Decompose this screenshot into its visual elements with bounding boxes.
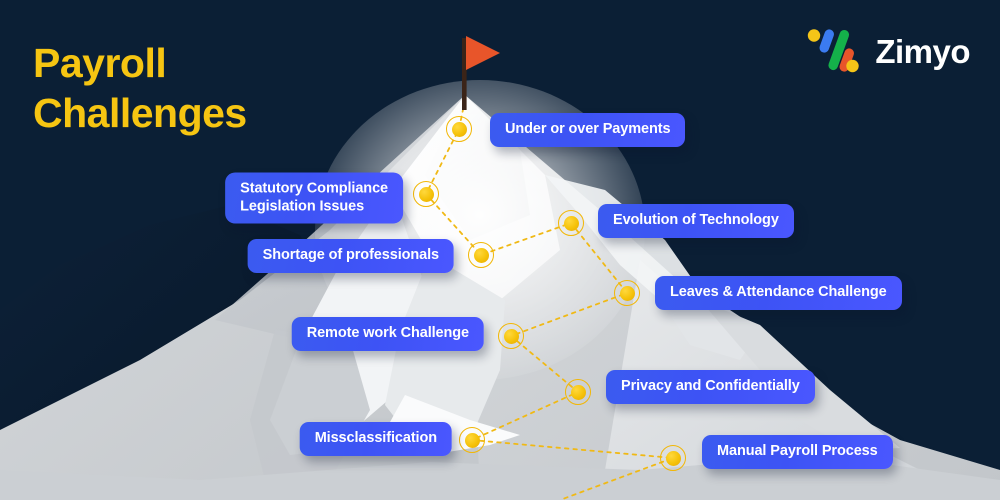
marker-privacy-and-confidentially[interactable] (565, 379, 591, 405)
marker-missclassification[interactable] (459, 427, 485, 453)
marker-leaves-attendance-challenge[interactable] (614, 280, 640, 306)
marker-manual-payroll-process[interactable] (660, 445, 686, 471)
challenge-label-statutory-compliance-legislation-issues[interactable]: Statutory Compliance Legislation Issues (225, 173, 403, 224)
marker-under-or-over-payments[interactable] (446, 116, 472, 142)
marker-remote-work-challenge[interactable] (498, 323, 524, 349)
zimyo-logo-icon (805, 26, 861, 76)
challenge-label-manual-payroll-process[interactable]: Manual Payroll Process (702, 435, 893, 469)
challenge-label-privacy-and-confidentially[interactable]: Privacy and Confidentially (606, 370, 815, 404)
challenge-label-under-or-over-payments[interactable]: Under or over Payments (490, 113, 685, 147)
challenge-label-missclassification[interactable]: Missclassification (300, 422, 452, 456)
brand-name: Zimyo (875, 35, 970, 68)
marker-shortage-of-professionals[interactable] (468, 242, 494, 268)
infographic-canvas: Payroll Challenges Zimyo Under or over P… (0, 0, 1000, 500)
brand-logo: Zimyo (805, 26, 970, 76)
flag-pole (462, 38, 467, 110)
challenge-label-remote-work-challenge[interactable]: Remote work Challenge (292, 317, 484, 351)
page-title: Payroll Challenges (33, 38, 247, 138)
marker-statutory-compliance-legislation-issues[interactable] (413, 181, 439, 207)
challenge-label-shortage-of-professionals[interactable]: Shortage of professionals (248, 239, 454, 273)
challenge-label-evolution-of-technology[interactable]: Evolution of Technology (598, 204, 794, 238)
challenge-label-leaves-attendance-challenge[interactable]: Leaves & Attendance Challenge (655, 276, 902, 310)
marker-evolution-of-technology[interactable] (558, 210, 584, 236)
